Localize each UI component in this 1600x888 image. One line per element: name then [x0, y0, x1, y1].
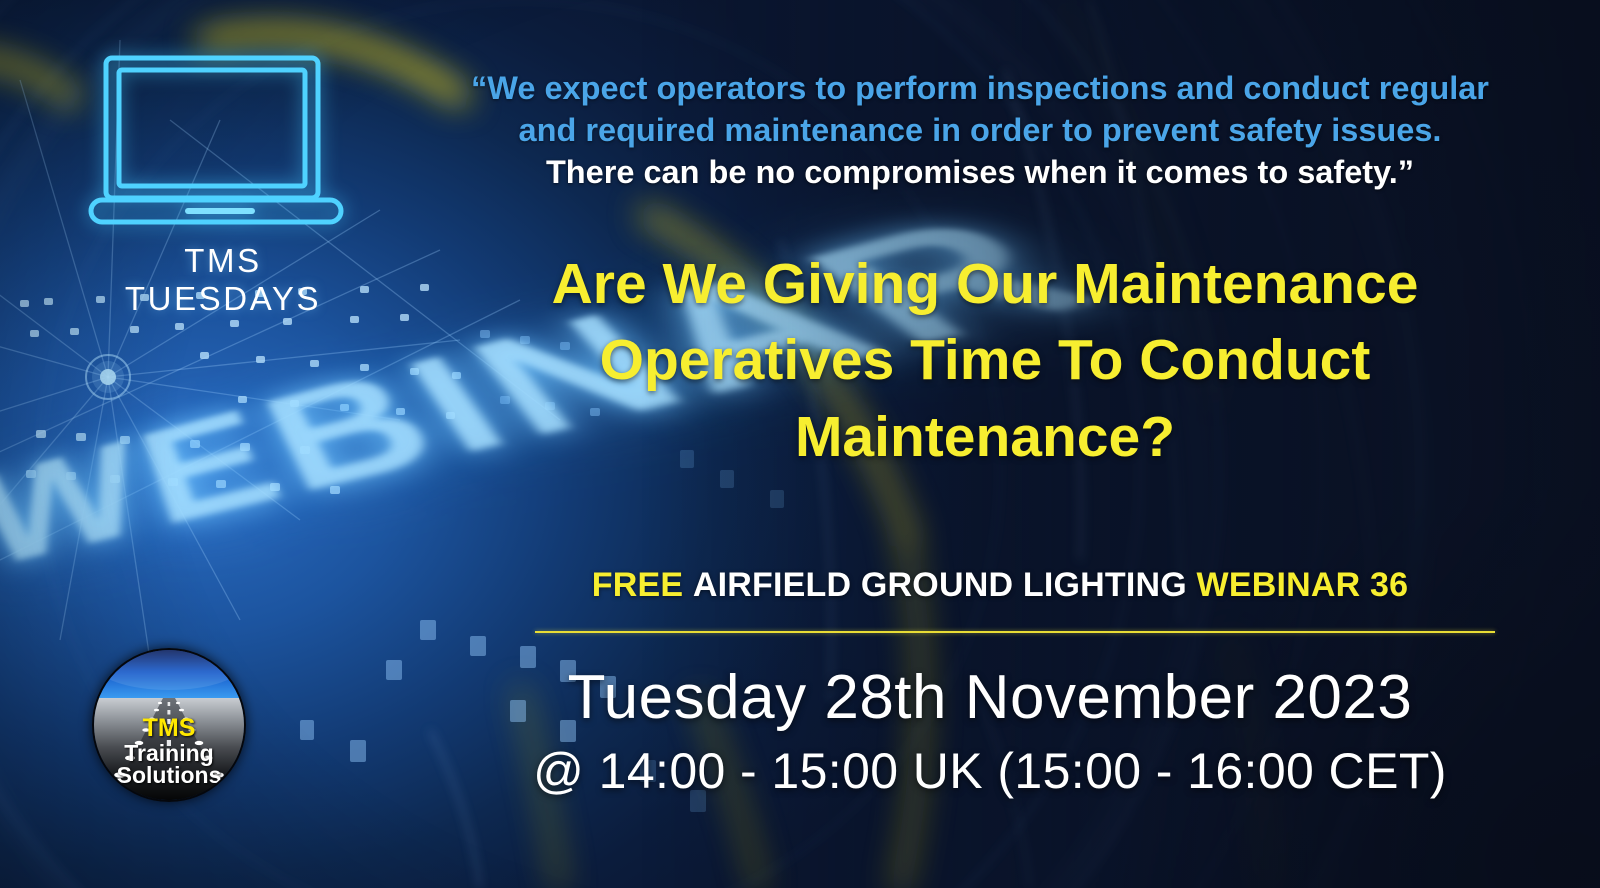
headline-line-1: Are We Giving Our Maintenance [440, 246, 1530, 322]
tms-tuesdays-logo: TMS TUESDAYS [88, 52, 358, 318]
webinar-number-label: WEBINAR 36 [1197, 566, 1409, 604]
webinar-spacer-2 [1187, 566, 1197, 604]
event-date: Tuesday 28th November 2023 [440, 662, 1540, 733]
headline-title: Are We Giving Our Maintenance Operatives… [440, 246, 1530, 475]
event-time: @ 14:00 - 15:00 UK (15:00 - 16:00 CET) [440, 742, 1540, 800]
tms-tuesdays-label: TMS TUESDAYS [88, 242, 358, 318]
badge-line-tms: TMS [94, 716, 244, 742]
quote-line-3: There can be no compromises when it come… [400, 152, 1560, 194]
quote-line-2: and required maintenance in order to pre… [400, 110, 1560, 152]
webinar-topic-label [683, 566, 693, 604]
badge-line-solutions: Solutions [94, 764, 244, 787]
quote-block: “We expect operators to perform inspecti… [400, 68, 1560, 193]
poster-content: “We expect operators to perform inspecti… [400, 0, 1600, 888]
yellow-divider-rule [535, 631, 1495, 633]
laptop-icon [88, 52, 348, 228]
quote-line-1: “We expect operators to perform inspecti… [400, 68, 1560, 110]
webinar-topic-text: AIRFIELD GROUND LIGHTING [693, 566, 1187, 604]
tms-training-solutions-badge: TMS Training Solutions [92, 648, 246, 802]
headline-line-3: Maintenance? [440, 399, 1530, 475]
webinar-promo-poster: WEBINAR TMS TUESDAYS [0, 0, 1600, 888]
webinar-subtitle: FREE AIRFIELD GROUND LIGHTING WEBINAR 36 [480, 566, 1520, 605]
headline-line-2: Operatives Time To Conduct [440, 322, 1530, 398]
webinar-free-label: FREE [592, 566, 683, 604]
